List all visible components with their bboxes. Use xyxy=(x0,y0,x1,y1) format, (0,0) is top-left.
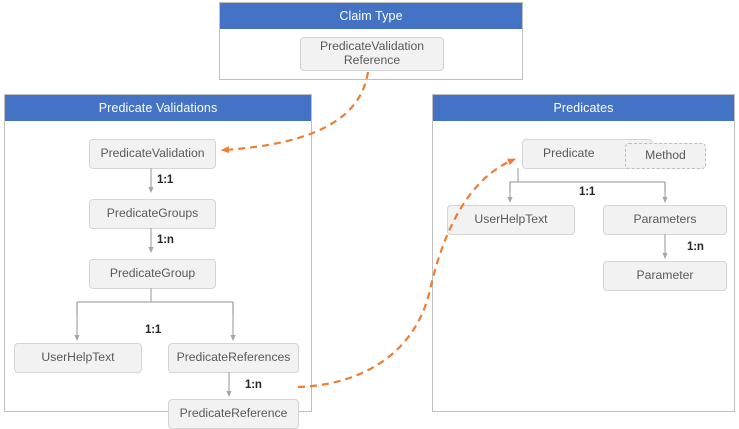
panel-claim-type: Claim Type PredicateValidation Reference xyxy=(219,2,523,80)
relation-label-pgs-pg: 1:n xyxy=(157,234,174,246)
panel-predicate-validations-body: PredicateValidation PredicateGroups Pred… xyxy=(5,121,311,411)
node-label: PredicateGroup xyxy=(110,267,195,281)
node-label: UserHelpText xyxy=(474,213,547,227)
relation-label-prs-pr: 1:n xyxy=(245,379,262,391)
node-label: PredicateGroups xyxy=(107,207,198,221)
relation-label-pg-children: 1:1 xyxy=(145,324,161,336)
node-label: PredicateReference xyxy=(180,407,288,421)
node-label-line2: Reference xyxy=(344,54,400,68)
panel-predicates-title: Predicates xyxy=(553,101,613,115)
panel-predicate-validations-title: Predicate Validations xyxy=(99,101,218,115)
panel-predicate-validations-header: Predicate Validations xyxy=(5,95,311,121)
node-label: Parameters xyxy=(634,213,697,227)
node-predicate-group[interactable]: PredicateGroup xyxy=(89,259,216,289)
node-predicate-reference[interactable]: PredicateReference xyxy=(168,399,299,429)
relation-label-pv-pg: 1:1 xyxy=(157,174,173,186)
node-user-help-text-right[interactable]: UserHelpText xyxy=(447,205,575,235)
panel-predicate-validations: Predicate Validations PredicateValidatio… xyxy=(4,94,312,412)
panel-predicates-header: Predicates xyxy=(433,95,734,121)
panel-claim-type-header: Claim Type xyxy=(220,3,522,29)
diagram-canvas: Claim Type PredicateValidation Reference… xyxy=(0,0,739,416)
node-label: Method xyxy=(645,149,686,163)
panel-claim-type-body: PredicateValidation Reference xyxy=(220,29,522,79)
node-method[interactable]: Method xyxy=(625,143,706,169)
node-predicate-validation-reference[interactable]: PredicateValidation Reference xyxy=(300,37,444,71)
node-parameter[interactable]: Parameter xyxy=(603,261,727,291)
relation-label-params-param: 1:n xyxy=(687,241,704,253)
node-parameters[interactable]: Parameters xyxy=(603,205,727,235)
panel-predicates-body: Predicate Method UserHelpText Parameters… xyxy=(433,121,734,411)
node-label: Predicate xyxy=(543,147,595,161)
node-predicate-references[interactable]: PredicateReferences xyxy=(168,343,299,373)
node-user-help-text-left[interactable]: UserHelpText xyxy=(14,343,142,373)
panel-predicates: Predicates Predicate Method UserHelpText… xyxy=(432,94,735,412)
node-label: Parameter xyxy=(637,269,694,283)
node-predicate-groups[interactable]: PredicateGroups xyxy=(89,199,216,229)
node-label-line1: PredicateValidation xyxy=(320,40,424,54)
node-predicate-validation[interactable]: PredicateValidation xyxy=(89,139,216,169)
relation-label-p-children: 1:1 xyxy=(579,186,595,198)
node-label: UserHelpText xyxy=(41,351,114,365)
node-label: PredicateValidation xyxy=(100,147,204,161)
node-label: PredicateReferences xyxy=(177,351,291,365)
panel-claim-type-title: Claim Type xyxy=(339,9,402,23)
